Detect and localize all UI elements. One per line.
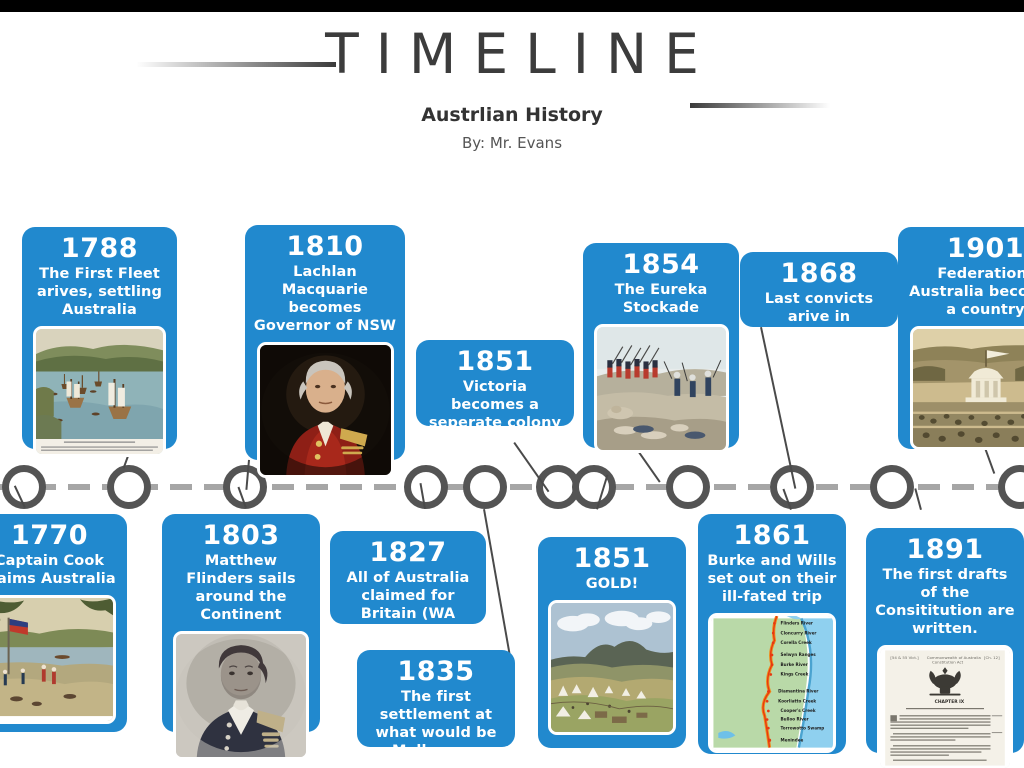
title-block: TIMELINE	[0, 18, 1024, 90]
event-description: Lachlan Macquarie becomes Governor of NS…	[253, 263, 397, 335]
macquarie-portrait-art	[260, 345, 391, 475]
title-rule-left	[136, 62, 336, 67]
event-year: 1827	[338, 537, 478, 568]
event-year: 1810	[253, 231, 397, 262]
event-card-1803[interactable]: 1803 Matthew Flinders sails around the C…	[162, 514, 320, 732]
event-description: Matthew Flinders sails around the Contin…	[170, 552, 312, 624]
event-card-1891[interactable]: 1891 The first drafts of the Consitituti…	[866, 528, 1024, 753]
event-description: Captain Cook claims Australia	[0, 552, 119, 588]
event-image-lachlan-macquarie-portrait	[257, 342, 394, 478]
title-rule-right	[690, 103, 830, 108]
connector-1891	[914, 488, 922, 510]
svg-text:Cooper's Creek: Cooper's Creek	[781, 708, 816, 713]
svg-text:Corella Creek: Corella Creek	[781, 640, 812, 645]
event-card-1788[interactable]: 1788 The First Fleet arives, settling Au…	[22, 227, 177, 449]
event-year: 1788	[30, 233, 169, 264]
svg-text:Diamantina River: Diamantina River	[778, 689, 819, 694]
event-image-constitution-document-scan: [54 & 55 Vict.] Commonwealth of Australi…	[877, 645, 1013, 768]
event-image-federation-ceremony-photo	[910, 326, 1024, 450]
svg-text:Flinders River: Flinders River	[781, 621, 814, 626]
svg-text:Kings Creek: Kings Creek	[781, 672, 809, 677]
event-card-1851-victoria[interactable]: 1851 Victoria becomes a seperate colony	[416, 340, 574, 426]
event-year: 1868	[748, 258, 890, 289]
event-description: GOLD!	[546, 575, 678, 593]
svg-text:[Ch. 12]: [Ch. 12]	[984, 656, 1000, 660]
event-description: The Eureka Stockade	[591, 281, 731, 317]
event-image-burke-wills-route-map: Flinders River Cloncurry River Corella C…	[708, 613, 836, 753]
page-title: TIMELINE	[308, 18, 716, 90]
flinders-portrait-art	[176, 634, 306, 757]
event-description: The first settlement at what would be Me…	[365, 688, 507, 760]
svg-text:Burke River: Burke River	[781, 662, 809, 667]
event-card-1851-gold[interactable]: 1851 GOLD!	[538, 537, 686, 748]
svg-text:Koorliatto Creek: Koorliatto Creek	[778, 698, 816, 703]
constitution-scan-art: [54 & 55 Vict.] Commonwealth of Australi…	[880, 648, 1010, 768]
timeline-node-1868[interactable]	[870, 465, 914, 509]
goldfields-art	[551, 603, 673, 732]
connector-1854	[638, 452, 660, 483]
timeline-poster: TIMELINE Austrlian History By: Mr. Evans…	[0, 0, 1024, 768]
federation-ceremony-art	[913, 329, 1024, 447]
page-byline: By: Mr. Evans	[0, 134, 1024, 152]
first-fleet-painting-art	[36, 329, 163, 454]
event-card-1770[interactable]: 1770 Captain Cook claims Australia	[0, 514, 127, 732]
event-image-eureka-stockade-battle-print	[594, 324, 729, 453]
event-description: The first drafts of the Consititution ar…	[874, 566, 1016, 638]
event-description: Last convicts arive in Australia	[748, 290, 890, 344]
connector-1868	[760, 327, 796, 489]
event-card-1810[interactable]: 1810 Lachlan Macquarie becomes Governor …	[245, 225, 405, 460]
event-card-1854[interactable]: 1854 The Eureka Stockade	[583, 243, 739, 448]
event-card-1868[interactable]: 1868 Last convicts arive in Australia	[740, 252, 898, 327]
connector-1835	[483, 509, 513, 667]
cook-landing-art	[0, 598, 113, 721]
event-description: Burke and Wills set out on their ill-fat…	[706, 552, 838, 606]
event-image-goldfields-landscape-painting	[548, 600, 676, 735]
event-description: Federation! Australia becomes a country	[906, 265, 1024, 319]
timeline-node-1827[interactable]	[404, 465, 448, 509]
event-card-1835[interactable]: 1835 The first settlement at what would …	[357, 650, 515, 747]
svg-text:Selwyn Ranges: Selwyn Ranges	[781, 652, 817, 657]
event-image-matthew-flinders-portrait	[173, 631, 309, 760]
eureka-stockade-art	[597, 327, 726, 450]
svg-text:Menindee: Menindee	[781, 737, 804, 742]
svg-text:[54 & 55 Vict.]: [54 & 55 Vict.]	[890, 656, 919, 660]
top-black-bar	[0, 0, 1024, 12]
timeline-node-1835[interactable]	[463, 465, 507, 509]
timeline-node-1851b[interactable]	[572, 465, 616, 509]
event-description: The First Fleet arives, settling Austral…	[30, 265, 169, 319]
event-year: 1854	[591, 249, 731, 280]
event-year: 1851	[546, 543, 678, 574]
event-year: 1835	[365, 656, 507, 687]
svg-text:Bulloo River: Bulloo River	[781, 717, 810, 722]
event-card-1901[interactable]: 1901 Federation! Australia becomes a cou…	[898, 227, 1024, 449]
event-year: 1861	[706, 520, 838, 551]
timeline-node-1788[interactable]	[107, 465, 151, 509]
event-description: All of Australia claimed for Britain (WA…	[338, 569, 478, 641]
event-year: 1901	[906, 233, 1024, 264]
event-description: Victoria becomes a seperate colony	[424, 378, 566, 432]
timeline-node-1891[interactable]	[998, 465, 1024, 509]
svg-text:Torrowotto Swamp: Torrowotto Swamp	[781, 725, 825, 730]
event-card-1827[interactable]: 1827 All of Australia claimed for Britai…	[330, 531, 486, 624]
svg-text:CHAPTER IX: CHAPTER IX	[935, 699, 965, 705]
svg-text:Constitution Act: Constitution Act	[932, 661, 964, 665]
event-year: 1803	[170, 520, 312, 551]
burke-wills-map-art: Flinders River Cloncurry River Corella C…	[711, 616, 833, 750]
event-card-1861[interactable]: 1861 Burke and Wills set out on their il…	[698, 514, 846, 754]
event-year: 1770	[0, 520, 119, 551]
page-subtitle: Austrlian History	[0, 104, 1024, 126]
poster-header: TIMELINE Austrlian History By: Mr. Evans	[0, 18, 1024, 152]
event-year: 1851	[424, 346, 566, 377]
event-year: 1891	[874, 534, 1016, 565]
svg-text:Commonwealth of Australia: Commonwealth of Australia	[927, 656, 981, 660]
event-image-cook-landing-painting	[0, 595, 116, 724]
event-image-first-fleet-harbour-painting	[33, 326, 166, 457]
timeline-node-1854[interactable]	[666, 465, 710, 509]
svg-text:Cloncurry River: Cloncurry River	[781, 630, 818, 635]
